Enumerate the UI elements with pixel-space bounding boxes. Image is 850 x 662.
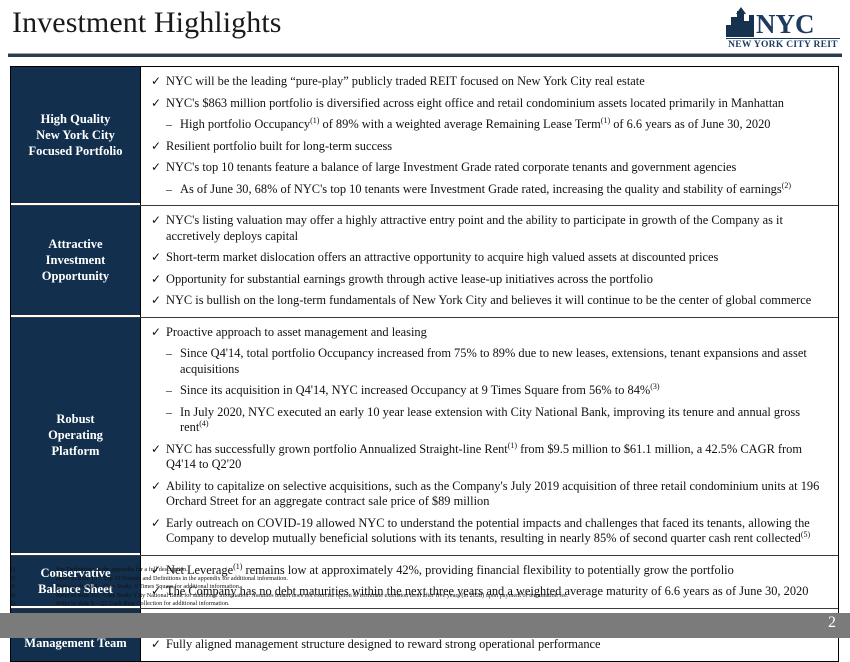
bullet-text: Ability to capitalize on selective acqui… (166, 479, 830, 510)
highlight-row: RobustOperatingPlatform✓Proactive approa… (11, 318, 838, 556)
dash-icon: – (166, 182, 180, 198)
dash-icon: – (166, 383, 180, 399)
bullet-text: Short-term market dislocation offers an … (166, 250, 830, 266)
footnote-text: See Definitions in the appendix for a fu… (56, 566, 838, 575)
logo-wordmark: NYC (756, 11, 815, 37)
page-title: Investment Highlights (12, 6, 282, 40)
footnote-row: 4)Refer to slide 15 – Case Study: City N… (8, 592, 838, 601)
logo-subtitle: NEW YORK CITY REIT (726, 38, 840, 50)
checkmark-icon: ✓ (151, 213, 166, 229)
bullet-text: High portfolio Occupancy(1) of 89% with … (180, 117, 830, 133)
bullet-text: In July 2020, NYC executed an early 10 y… (180, 405, 830, 436)
slide-header: Investment Highlights NYC NEW YORK CITY … (0, 0, 850, 58)
checkmark-icon: ✓ (151, 516, 166, 532)
bullet-text: Proactive approach to asset management a… (166, 325, 830, 341)
sub-bullet-item: –In July 2020, NYC executed an early 10 … (151, 405, 830, 436)
sub-bullet-item: –High portfolio Occupancy(1) of 89% with… (151, 117, 830, 133)
footnote-number: 5) (8, 600, 56, 609)
bullet-item: ✓Short-term market dislocation offers an… (151, 250, 830, 266)
bullet-text: As of June 30, 68% of NYC's top 10 tenan… (180, 182, 830, 198)
logo-row: NYC (726, 9, 840, 37)
section-bullets: ✓Proactive approach to asset management … (140, 318, 838, 555)
header-divider (8, 53, 842, 57)
footnote-row: 1)See Definitions in the appendix for a … (8, 566, 838, 575)
footer-bar: 2 (0, 613, 850, 638)
highlight-row: AttractiveInvestmentOpportunity✓NYC's li… (11, 206, 838, 318)
bullet-text: NYC is bullish on the long-term fundamen… (166, 293, 830, 309)
skyline-icon (726, 11, 754, 37)
bullet-text: NYC's top 10 tenants feature a balance o… (166, 160, 830, 176)
section-label: RobustOperatingPlatform (11, 318, 140, 555)
sub-bullet-item: –Since Q4'14, total portfolio Occupancy … (151, 346, 830, 377)
bullet-text: NYC will be the leading “pure-play” publ… (166, 74, 830, 90)
checkmark-icon: ✓ (151, 325, 166, 341)
checkmark-icon: ✓ (151, 96, 166, 112)
footnote-row: 5)Refer to slide 9 – Q2 Cash Rent Collec… (8, 600, 838, 609)
footnote-number: 3) (8, 583, 56, 592)
bullet-text: Since Q4'14, total portfolio Occupancy i… (180, 346, 830, 377)
footnote-row: 3)Refer to slide 14 – Case Study: 9 Time… (8, 583, 838, 592)
highlight-row: High QualityNew York CityFocused Portfol… (11, 67, 838, 206)
bullet-item: ✓Ability to capitalize on selective acqu… (151, 479, 830, 510)
bullet-item: ✓Fully aligned management structure desi… (151, 637, 830, 653)
dash-icon: – (166, 346, 180, 362)
checkmark-icon: ✓ (151, 479, 166, 495)
bullet-item: ✓NYC's listing valuation may offer a hig… (151, 213, 830, 244)
brand-logo: NYC NEW YORK CITY REIT (726, 9, 840, 49)
bullet-item: ✓Resilient portfolio built for long-term… (151, 139, 830, 155)
bullet-text: NYC's listing valuation may offer a high… (166, 213, 830, 244)
checkmark-icon: ✓ (151, 272, 166, 288)
footnote-text: Refer to slide 9 – Q2 Cash Rent Collecti… (56, 600, 838, 609)
footnotes-list: 1)See Definitions in the appendix for a … (8, 566, 838, 609)
bullet-text: Opportunity for substantial earnings gro… (166, 272, 830, 288)
bullet-item: ✓NYC's top 10 tenants feature a balance … (151, 160, 830, 176)
footnote-number: 1) (8, 566, 56, 575)
bullet-text: Early outreach on COVID-19 allowed NYC t… (166, 516, 830, 547)
checkmark-icon: ✓ (151, 293, 166, 309)
footnote-number: 2) (8, 575, 56, 584)
checkmark-icon: ✓ (151, 250, 166, 266)
bullet-item: ✓NYC will be the leading “pure-play” pub… (151, 74, 830, 90)
bullet-text: NYC's $863 million portfolio is diversif… (166, 96, 830, 112)
bullet-item: ✓NYC's $863 million portfolio is diversi… (151, 96, 830, 112)
bullet-text: Resilient portfolio built for long-term … (166, 139, 830, 155)
footnote-text: Refer to slide 13 – Top 10 Tenants and D… (56, 575, 838, 584)
bullet-text: Since its acquisition in Q4'14, NYC incr… (180, 383, 830, 399)
checkmark-icon: ✓ (151, 442, 166, 458)
checkmark-icon: ✓ (151, 139, 166, 155)
footnote-row: 2)Refer to slide 13 – Top 10 Tenants and… (8, 575, 838, 584)
section-bullets: ✓NYC will be the leading “pure-play” pub… (140, 67, 838, 205)
bullet-item: ✓Opportunity for substantial earnings gr… (151, 272, 830, 288)
bullet-item: ✓NYC has successfully grown portfolio An… (151, 442, 830, 473)
checkmark-icon: ✓ (151, 637, 166, 653)
dash-icon: – (166, 117, 180, 133)
footnote-text: Refer to slide 14 – Case Study: 9 Times … (56, 583, 838, 592)
checkmark-icon: ✓ (151, 160, 166, 176)
bullet-text: NYC has successfully grown portfolio Ann… (166, 442, 830, 473)
section-label: High QualityNew York CityFocused Portfol… (11, 67, 140, 205)
footnote-text: Refer to slide 15 – Case Study: City Nat… (56, 592, 838, 601)
bullet-item: ✓NYC is bullish on the long-term fundame… (151, 293, 830, 309)
section-bullets: ✓NYC's listing valuation may offer a hig… (140, 206, 838, 317)
sub-bullet-item: –Since its acquisition in Q4'14, NYC inc… (151, 383, 830, 399)
checkmark-icon: ✓ (151, 74, 166, 90)
bullet-text: Fully aligned management structure desig… (166, 637, 830, 653)
footnote-number: 4) (8, 592, 56, 601)
page-number: 2 (828, 614, 836, 632)
bullet-item: ✓Early outreach on COVID-19 allowed NYC … (151, 516, 830, 547)
dash-icon: – (166, 405, 180, 421)
bullet-item: ✓Proactive approach to asset management … (151, 325, 830, 341)
sub-bullet-item: –As of June 30, 68% of NYC's top 10 tena… (151, 182, 830, 198)
section-label: AttractiveInvestmentOpportunity (11, 206, 140, 317)
